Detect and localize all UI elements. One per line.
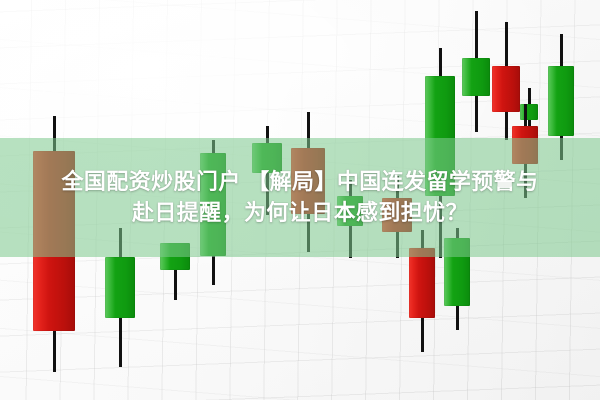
candle-body — [105, 257, 135, 318]
candle-bullish — [462, 11, 490, 132]
candle-body — [548, 66, 574, 136]
candle-body — [409, 248, 435, 318]
candle-body — [462, 58, 490, 96]
headline-band — [0, 138, 600, 257]
candlestick-stock-image: 全国配资炒股门户 【解局】中国连发留学预警与 赴日提醒，为何让日本感到担忧？ — [0, 0, 600, 400]
